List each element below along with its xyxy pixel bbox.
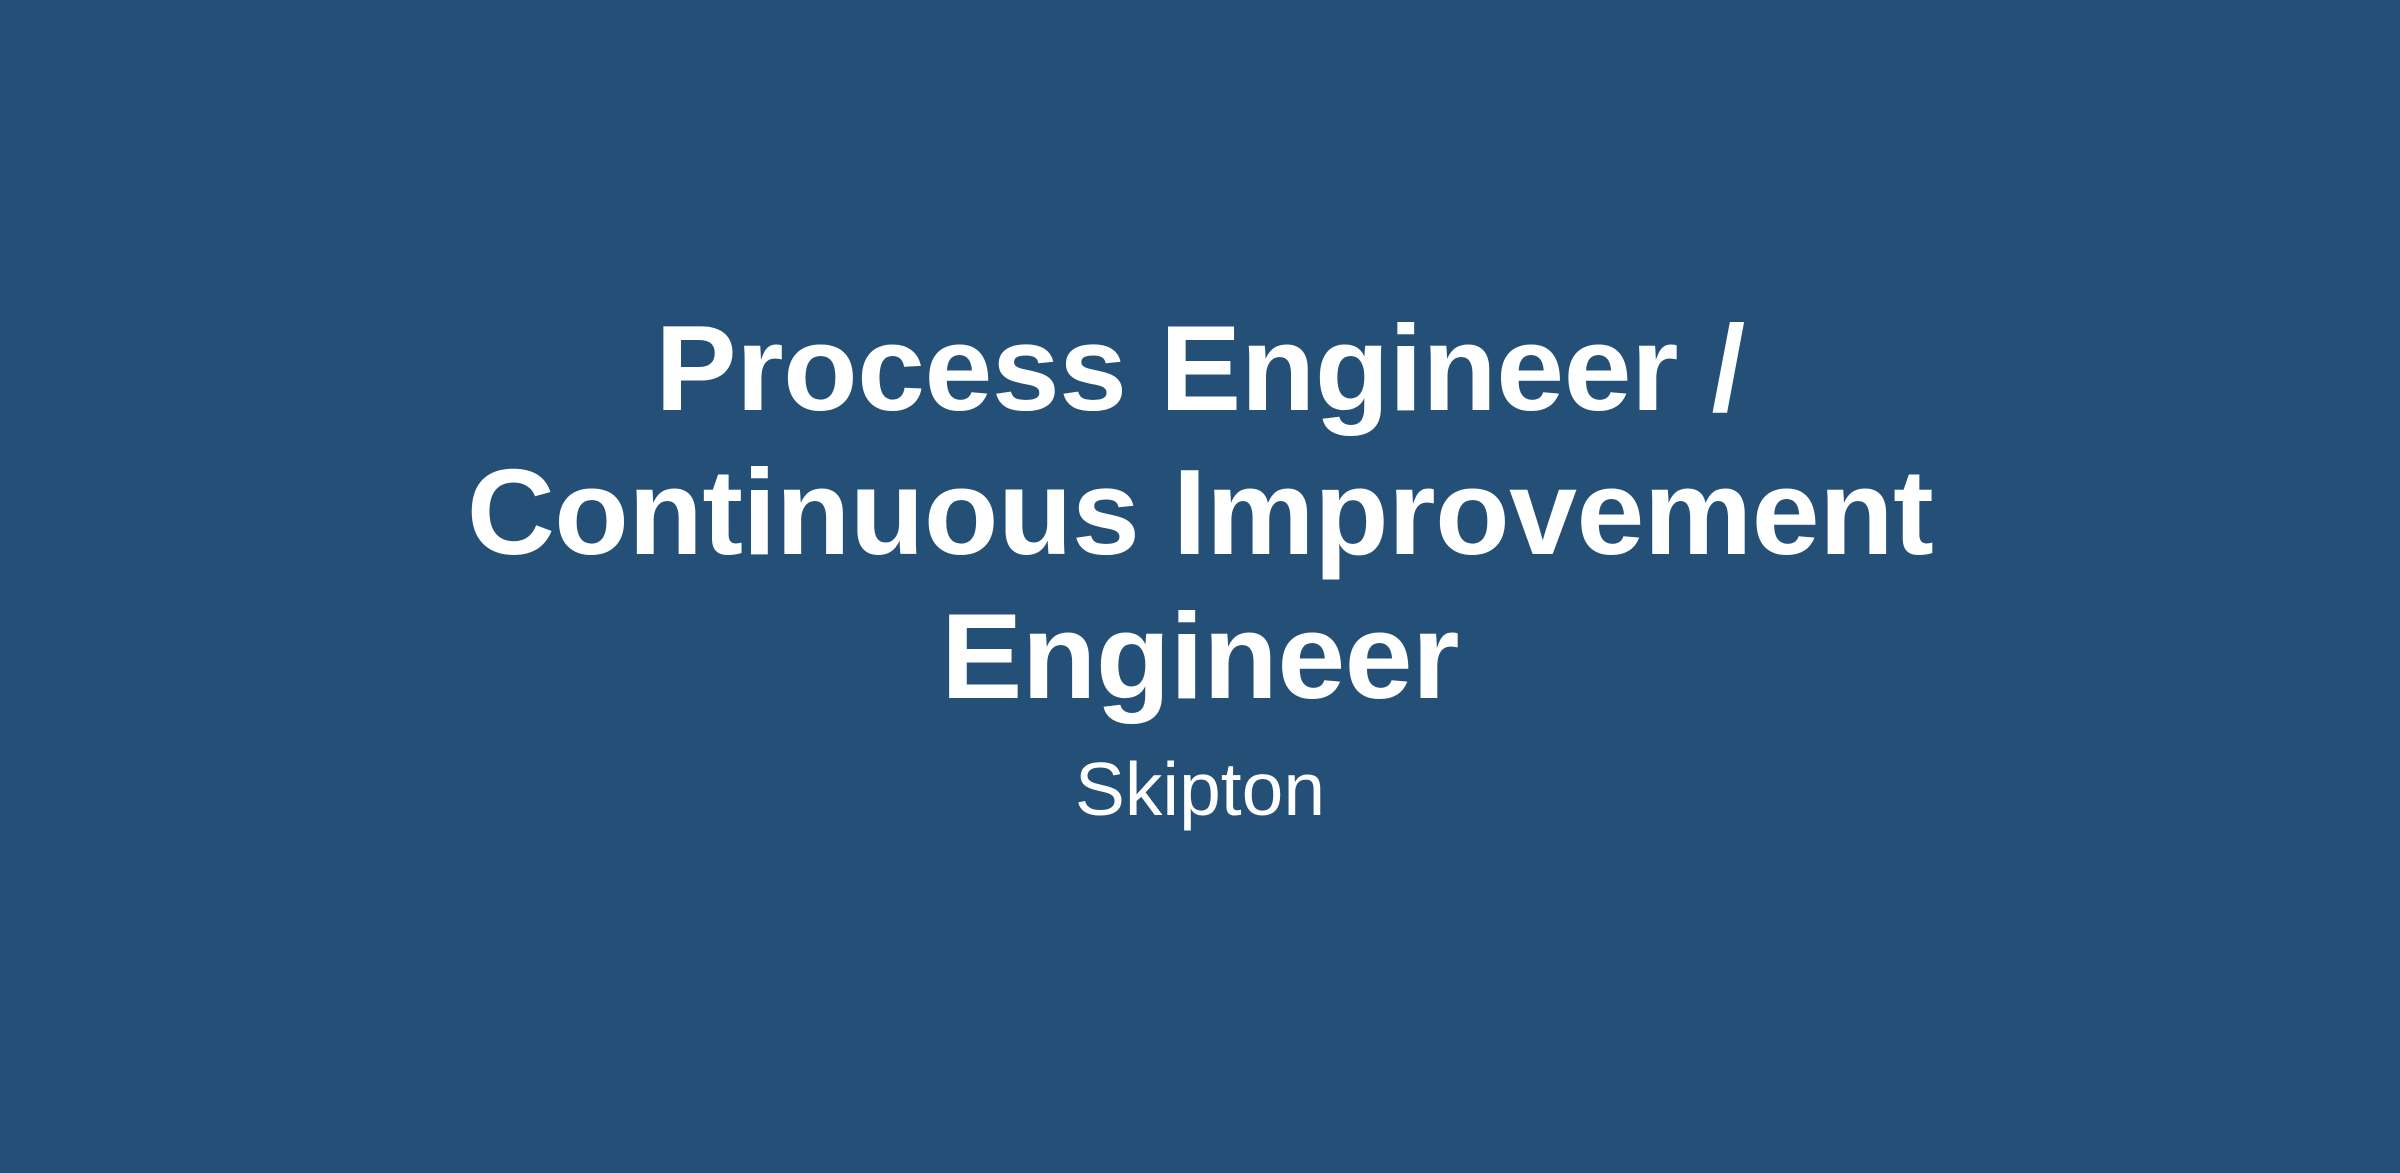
job-hero-content: Process Engineer / Continuous Improvemen… bbox=[450, 0, 1950, 834]
job-hero-banner: Process Engineer / Continuous Improvemen… bbox=[0, 0, 2400, 1173]
job-title: Process Engineer / Continuous Improvemen… bbox=[450, 296, 1950, 728]
job-location: Skipton bbox=[450, 744, 1950, 834]
